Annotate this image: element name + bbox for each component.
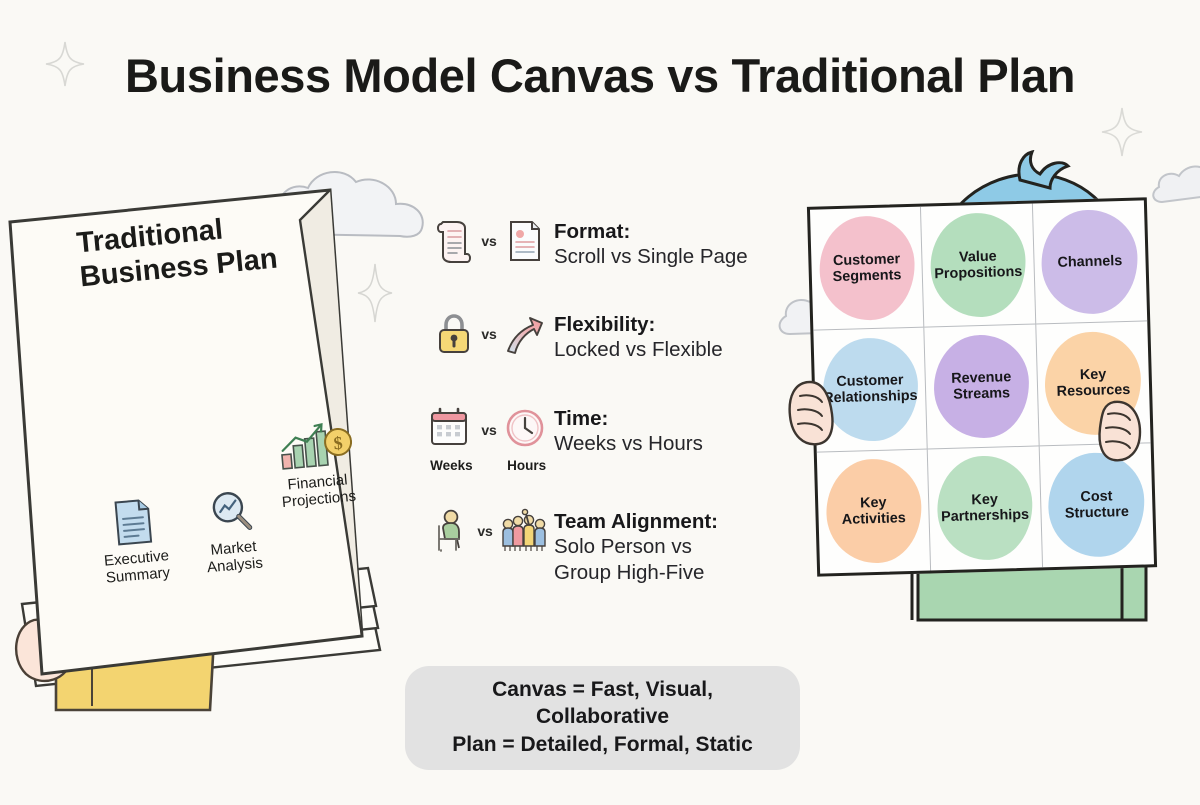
comparison-row-flexibility: vs Flexibility: Locked vs Flexible (424, 311, 804, 362)
comparison-row-subtitle: Locked vs Flexible (554, 337, 723, 362)
comparison-row-subtitle-line2: Group High-Five (554, 560, 718, 585)
comparison-row-time: Weeks vs Hours Time: Weeks vs Hours (424, 405, 804, 456)
comparison-row-icons: vs (424, 218, 554, 264)
summary-line-plan: Plan = Detailed, Formal, Static (423, 731, 782, 758)
seated-person-icon (429, 508, 471, 554)
summary-banner: Canvas = Fast, Visual, Collaborative Pla… (405, 666, 800, 770)
single-page-icon (503, 218, 545, 264)
comparison-list: vs Format: Scroll vs Single Page (424, 218, 804, 627)
scroll-icon (433, 218, 475, 264)
comparison-row-text: Flexibility: Locked vs Flexible (554, 311, 723, 362)
comparison-row-text: Time: Weeks vs Hours (554, 405, 703, 456)
hand-right-icon (1100, 402, 1140, 460)
canvas-hands (770, 150, 1200, 800)
comparison-row-icons: vs (424, 508, 554, 554)
comparison-row-text: Format: Scroll vs Single Page (554, 218, 748, 269)
vs-separator: vs (481, 233, 496, 249)
vs-separator: vs (481, 422, 496, 438)
group-high-five-icon (499, 508, 549, 554)
comparison-row-subtitle: Scroll vs Single Page (554, 244, 748, 269)
comparison-row-format: vs Format: Scroll vs Single Page (424, 218, 804, 269)
summary-line-canvas: Canvas = Fast, Visual, Collaborative (423, 676, 782, 731)
infographic-canvas: Business Model Canvas vs Traditional Pla… (0, 0, 1200, 800)
left-illustration: Traditional Business Plan Executive Summ… (0, 150, 420, 800)
lock-icon (433, 311, 475, 357)
magnifier-chart-icon (206, 486, 254, 538)
comparison-row-title: Team Alignment: (554, 509, 718, 534)
svg-text:$: $ (333, 433, 344, 454)
vs-separator: vs (477, 523, 492, 539)
comparison-row-team-alignment: vs (424, 508, 804, 585)
calendar-caption: Weeks (427, 458, 475, 473)
clock-caption: Hours (503, 458, 551, 473)
comparison-row-title: Flexibility: (554, 312, 723, 337)
vs-separator: vs (481, 326, 496, 342)
clock-icon (503, 405, 547, 451)
comparison-row-subtitle: Weeks vs Hours (554, 431, 703, 456)
comparison-row-icons: Weeks vs Hours (424, 405, 554, 456)
bar-chart-coin-icon: $ (274, 419, 354, 473)
hand-left-icon (790, 382, 833, 444)
curved-arrow-icon (503, 311, 545, 357)
right-illustration: CustomerSegments ValuePropositions Chann… (770, 150, 1200, 800)
section-financial-projections: $ Financial Projections (254, 417, 377, 513)
comparison-row-text: Team Alignment: Solo Person vs Group Hig… (554, 508, 718, 585)
page-title: Business Model Canvas vs Traditional Pla… (0, 48, 1200, 103)
comparison-row-icons: vs (424, 311, 554, 357)
document-title: Traditional Business Plan (75, 209, 279, 295)
comparison-row-title: Time: (554, 406, 703, 431)
calendar-icon (427, 405, 471, 451)
comparison-row-title: Format: (554, 219, 748, 244)
document-icon (111, 496, 155, 547)
section-executive-summary: Executive Summary (81, 494, 188, 589)
comparison-row-subtitle-line1: Solo Person vs (554, 534, 718, 559)
